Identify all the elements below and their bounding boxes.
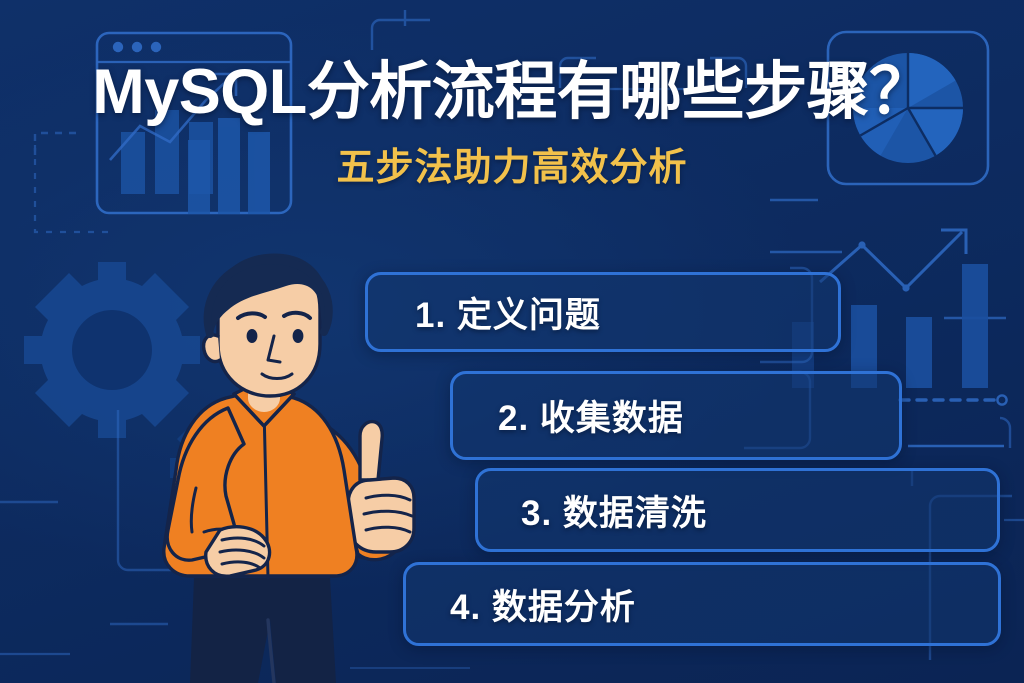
steps-list: 1. 定义问题 2. 收集数据 3. 数据清洗 4. 数据分析 — [0, 0, 1024, 683]
step-label: 3. 数据清洗 — [521, 485, 707, 536]
poster-canvas: MySQL分析流程有哪些步骤？ 五步法助力高效分析 — [0, 0, 1024, 683]
step-label: 4. 数据分析 — [450, 579, 636, 630]
step-item-1[interactable]: 1. 定义问题 — [365, 272, 841, 352]
step-label: 2. 收集数据 — [498, 390, 684, 441]
step-item-3[interactable]: 3. 数据清洗 — [475, 468, 1000, 552]
step-item-2[interactable]: 2. 收集数据 — [450, 371, 902, 460]
step-label: 1. 定义问题 — [415, 287, 601, 338]
step-item-4[interactable]: 4. 数据分析 — [403, 562, 1001, 646]
